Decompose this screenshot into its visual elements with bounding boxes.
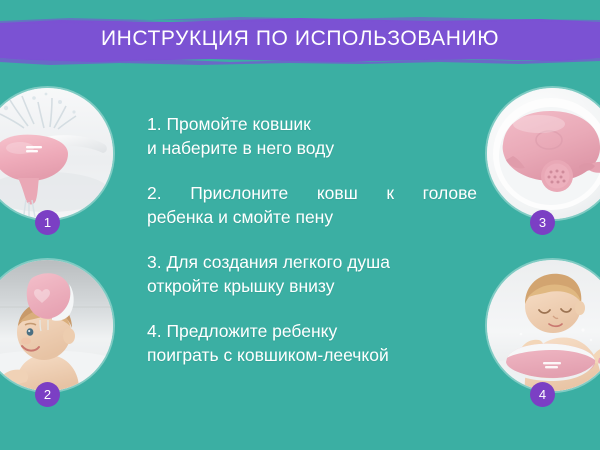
photo-step-2[interactable] (0, 260, 113, 391)
instruction-step-3: 3. Для создания легкого душа откройте кр… (147, 250, 477, 298)
header-banner: ИНСТРУКЦИЯ ПО ИСПОЛЬЗОВАНИЮ (0, 14, 600, 66)
photo-3-badge: 3 (530, 210, 555, 235)
step-4-line-2: поиграть с ковшиком-леечкой (147, 343, 477, 367)
photo-3-illustration (487, 88, 600, 219)
step-3-line-1: 3. Для создания легкого душа (147, 250, 477, 274)
step-4-line-1: 4. Предложите ребенку (147, 319, 477, 343)
photo-4-illustration (487, 260, 600, 391)
photo-step-4[interactable] (487, 260, 600, 391)
instruction-steps-list: 1. Промойте ковшик и наберите в него вод… (147, 112, 477, 367)
step-1-line-2: и наберите в него воду (147, 136, 477, 160)
step-1-line-1: 1. Промойте ковшик (147, 112, 477, 136)
photo-4-badge: 4 (530, 382, 555, 407)
step-2-line-1: 2. Прислоните ковш к голове (147, 181, 477, 205)
photo-2-badge: 2 (35, 382, 60, 407)
step-2-line-2: ребенка и смойте пену (147, 205, 477, 229)
photo-1-badge: 1 (35, 210, 60, 235)
instruction-step-1: 1. Промойте ковшик и наберите в него вод… (147, 112, 477, 160)
instruction-step-4: 4. Предложите ребенку поиграть с ковшико… (147, 319, 477, 367)
page-title: ИНСТРУКЦИЯ ПО ИСПОЛЬЗОВАНИЮ (0, 27, 600, 51)
photo-2-illustration (0, 260, 113, 391)
step-3-line-2: откройте крышку внизу (147, 274, 477, 298)
instruction-step-2: 2. Прислоните ковш к голове ребенка и см… (147, 181, 477, 229)
photo-step-3[interactable] (487, 88, 600, 219)
photo-step-1[interactable] (0, 88, 113, 219)
slide-canvas: ИНСТРУКЦИЯ ПО ИСПОЛЬЗОВАНИЮ (0, 0, 600, 450)
photo-1-illustration (0, 88, 113, 219)
